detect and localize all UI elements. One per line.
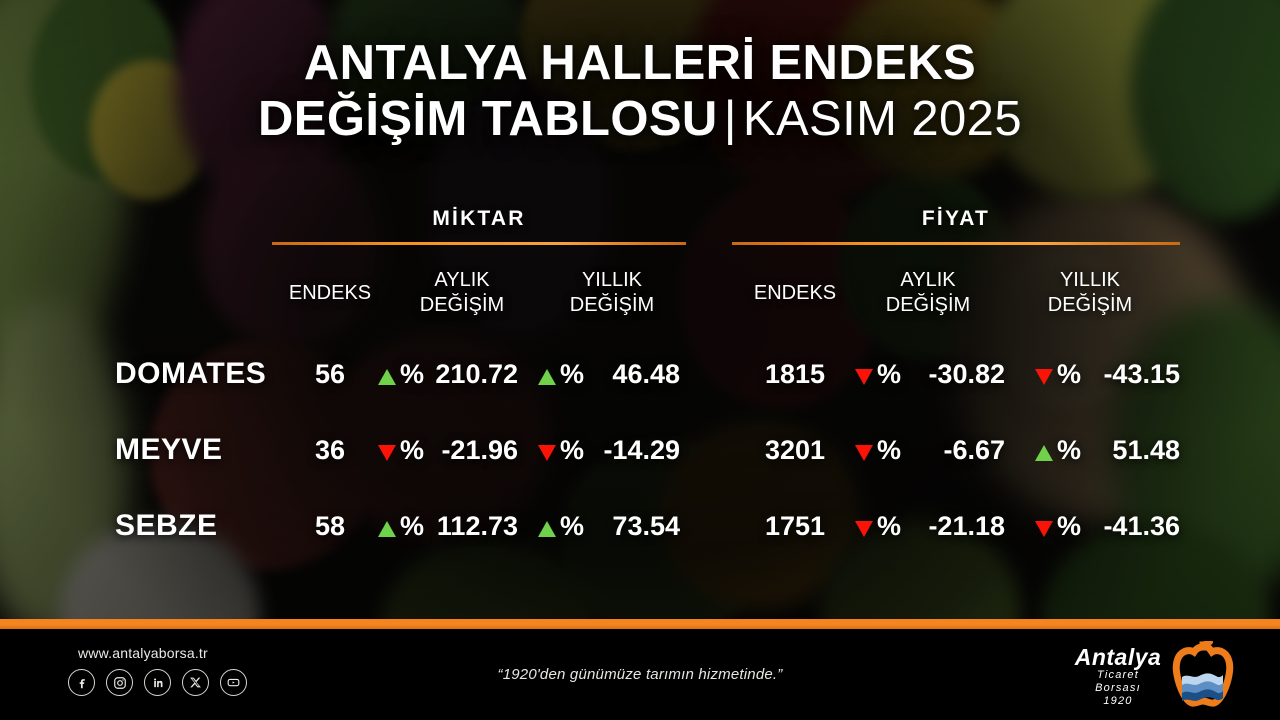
group-header-fiyat-label: FİYAT <box>732 207 1180 231</box>
title-line-1: ANTALYA HALLERİ ENDEKS <box>0 36 1280 90</box>
column-header-fiyat-endeks: ENDEKS <box>727 281 863 306</box>
group-header-miktar: MİKTAR <box>272 207 686 245</box>
group-header-fiyat-rule <box>732 242 1180 245</box>
cell-fiyat-yillik: -43.15 <box>1055 347 1180 401</box>
column-header-fiyat-aylik: AYLIK DEĞİŞİM <box>858 268 998 318</box>
footer: “1920'den günümüze tarımın hizmetinde.” … <box>0 629 1280 720</box>
arrow-down-icon <box>378 445 396 461</box>
facebook-icon[interactable] <box>68 669 95 696</box>
table-row: SEBZE 58 % 112.73 % 73.54 1751 % -21.18 … <box>0 499 1280 553</box>
linkedin-icon[interactable] <box>144 669 171 696</box>
cell-miktar-aylik: 112.73 <box>398 499 518 553</box>
table-row: DOMATES 56 % 210.72 % 46.48 1815 % -30.8… <box>0 347 1280 401</box>
cell-miktar-yillik: 46.48 <box>560 347 680 401</box>
footer-accent-bar <box>0 619 1280 629</box>
cell-miktar-yillik: 73.54 <box>560 499 680 553</box>
arrow-down-icon <box>1035 369 1053 385</box>
arrow-up-icon <box>378 521 396 537</box>
cell-miktar-aylik: -21.96 <box>398 423 518 477</box>
row-label: SEBZE <box>115 499 218 553</box>
row-label: MEYVE <box>115 423 223 477</box>
arrow-down-icon <box>855 369 873 385</box>
logo-line2: Ticaret <box>1062 669 1174 682</box>
x-icon[interactable] <box>182 669 209 696</box>
group-header-fiyat: FİYAT <box>732 207 1180 245</box>
arrow-down-icon <box>855 521 873 537</box>
table-row: MEYVE 36 % -21.96 % -14.29 3201 % -6.67 … <box>0 423 1280 477</box>
arrow-up-icon <box>538 521 556 537</box>
logo-wordmark: Antalya Ticaret Borsası 1920 <box>1062 645 1174 708</box>
cell-fiyat-aylik: -21.18 <box>880 499 1005 553</box>
page-title: ANTALYA HALLERİ ENDEKS DEĞİŞİM TABLOSU|K… <box>0 36 1280 148</box>
group-header-miktar-label: MİKTAR <box>272 207 686 231</box>
arrow-down-icon <box>855 445 873 461</box>
column-header-fiyat-yillik: YILLIK DEĞİŞİM <box>1020 268 1160 318</box>
cell-miktar-aylik: 210.72 <box>398 347 518 401</box>
column-header-miktar-yillik: YILLIK DEĞİŞİM <box>542 268 682 318</box>
social-links <box>68 669 247 696</box>
cell-fiyat-aylik: -30.82 <box>880 347 1005 401</box>
cell-fiyat-aylik: -6.67 <box>880 423 1005 477</box>
logo-year: 1920 <box>1062 695 1174 708</box>
title-line-2: DEĞİŞİM TABLOSU|KASIM 2025 <box>0 90 1280 148</box>
title-separator: | <box>718 92 743 146</box>
column-header-miktar-aylik: AYLIK DEĞİŞİM <box>392 268 532 318</box>
website-link[interactable]: www.antalyaborsa.tr <box>78 645 208 661</box>
cell-fiyat-yillik: -41.36 <box>1055 499 1180 553</box>
cell-fiyat-endeks: 3201 <box>727 423 863 477</box>
cell-fiyat-yillik: 51.48 <box>1055 423 1180 477</box>
infographic-canvas: ANTALYA HALLERİ ENDEKS DEĞİŞİM TABLOSU|K… <box>0 0 1280 720</box>
arrow-up-icon <box>538 369 556 385</box>
logo-line3: Borsası <box>1062 682 1174 695</box>
cell-fiyat-endeks: 1751 <box>727 499 863 553</box>
logo-mark-icon <box>1170 641 1236 709</box>
arrow-up-icon <box>1035 445 1053 461</box>
column-header-miktar-endeks: ENDEKS <box>262 281 398 306</box>
title-period: KASIM 2025 <box>743 92 1022 146</box>
title-line-2-main: DEĞİŞİM TABLOSU <box>258 92 718 146</box>
group-header-miktar-rule <box>272 242 686 245</box>
arrow-down-icon <box>1035 521 1053 537</box>
cell-fiyat-endeks: 1815 <box>727 347 863 401</box>
arrow-down-icon <box>538 445 556 461</box>
company-logo: Antalya Ticaret Borsası 1920 <box>1062 639 1242 713</box>
logo-name: Antalya <box>1062 645 1174 669</box>
instagram-icon[interactable] <box>106 669 133 696</box>
row-label: DOMATES <box>115 347 266 401</box>
arrow-up-icon <box>378 369 396 385</box>
youtube-icon[interactable] <box>220 669 247 696</box>
cell-miktar-yillik: -14.29 <box>560 423 680 477</box>
